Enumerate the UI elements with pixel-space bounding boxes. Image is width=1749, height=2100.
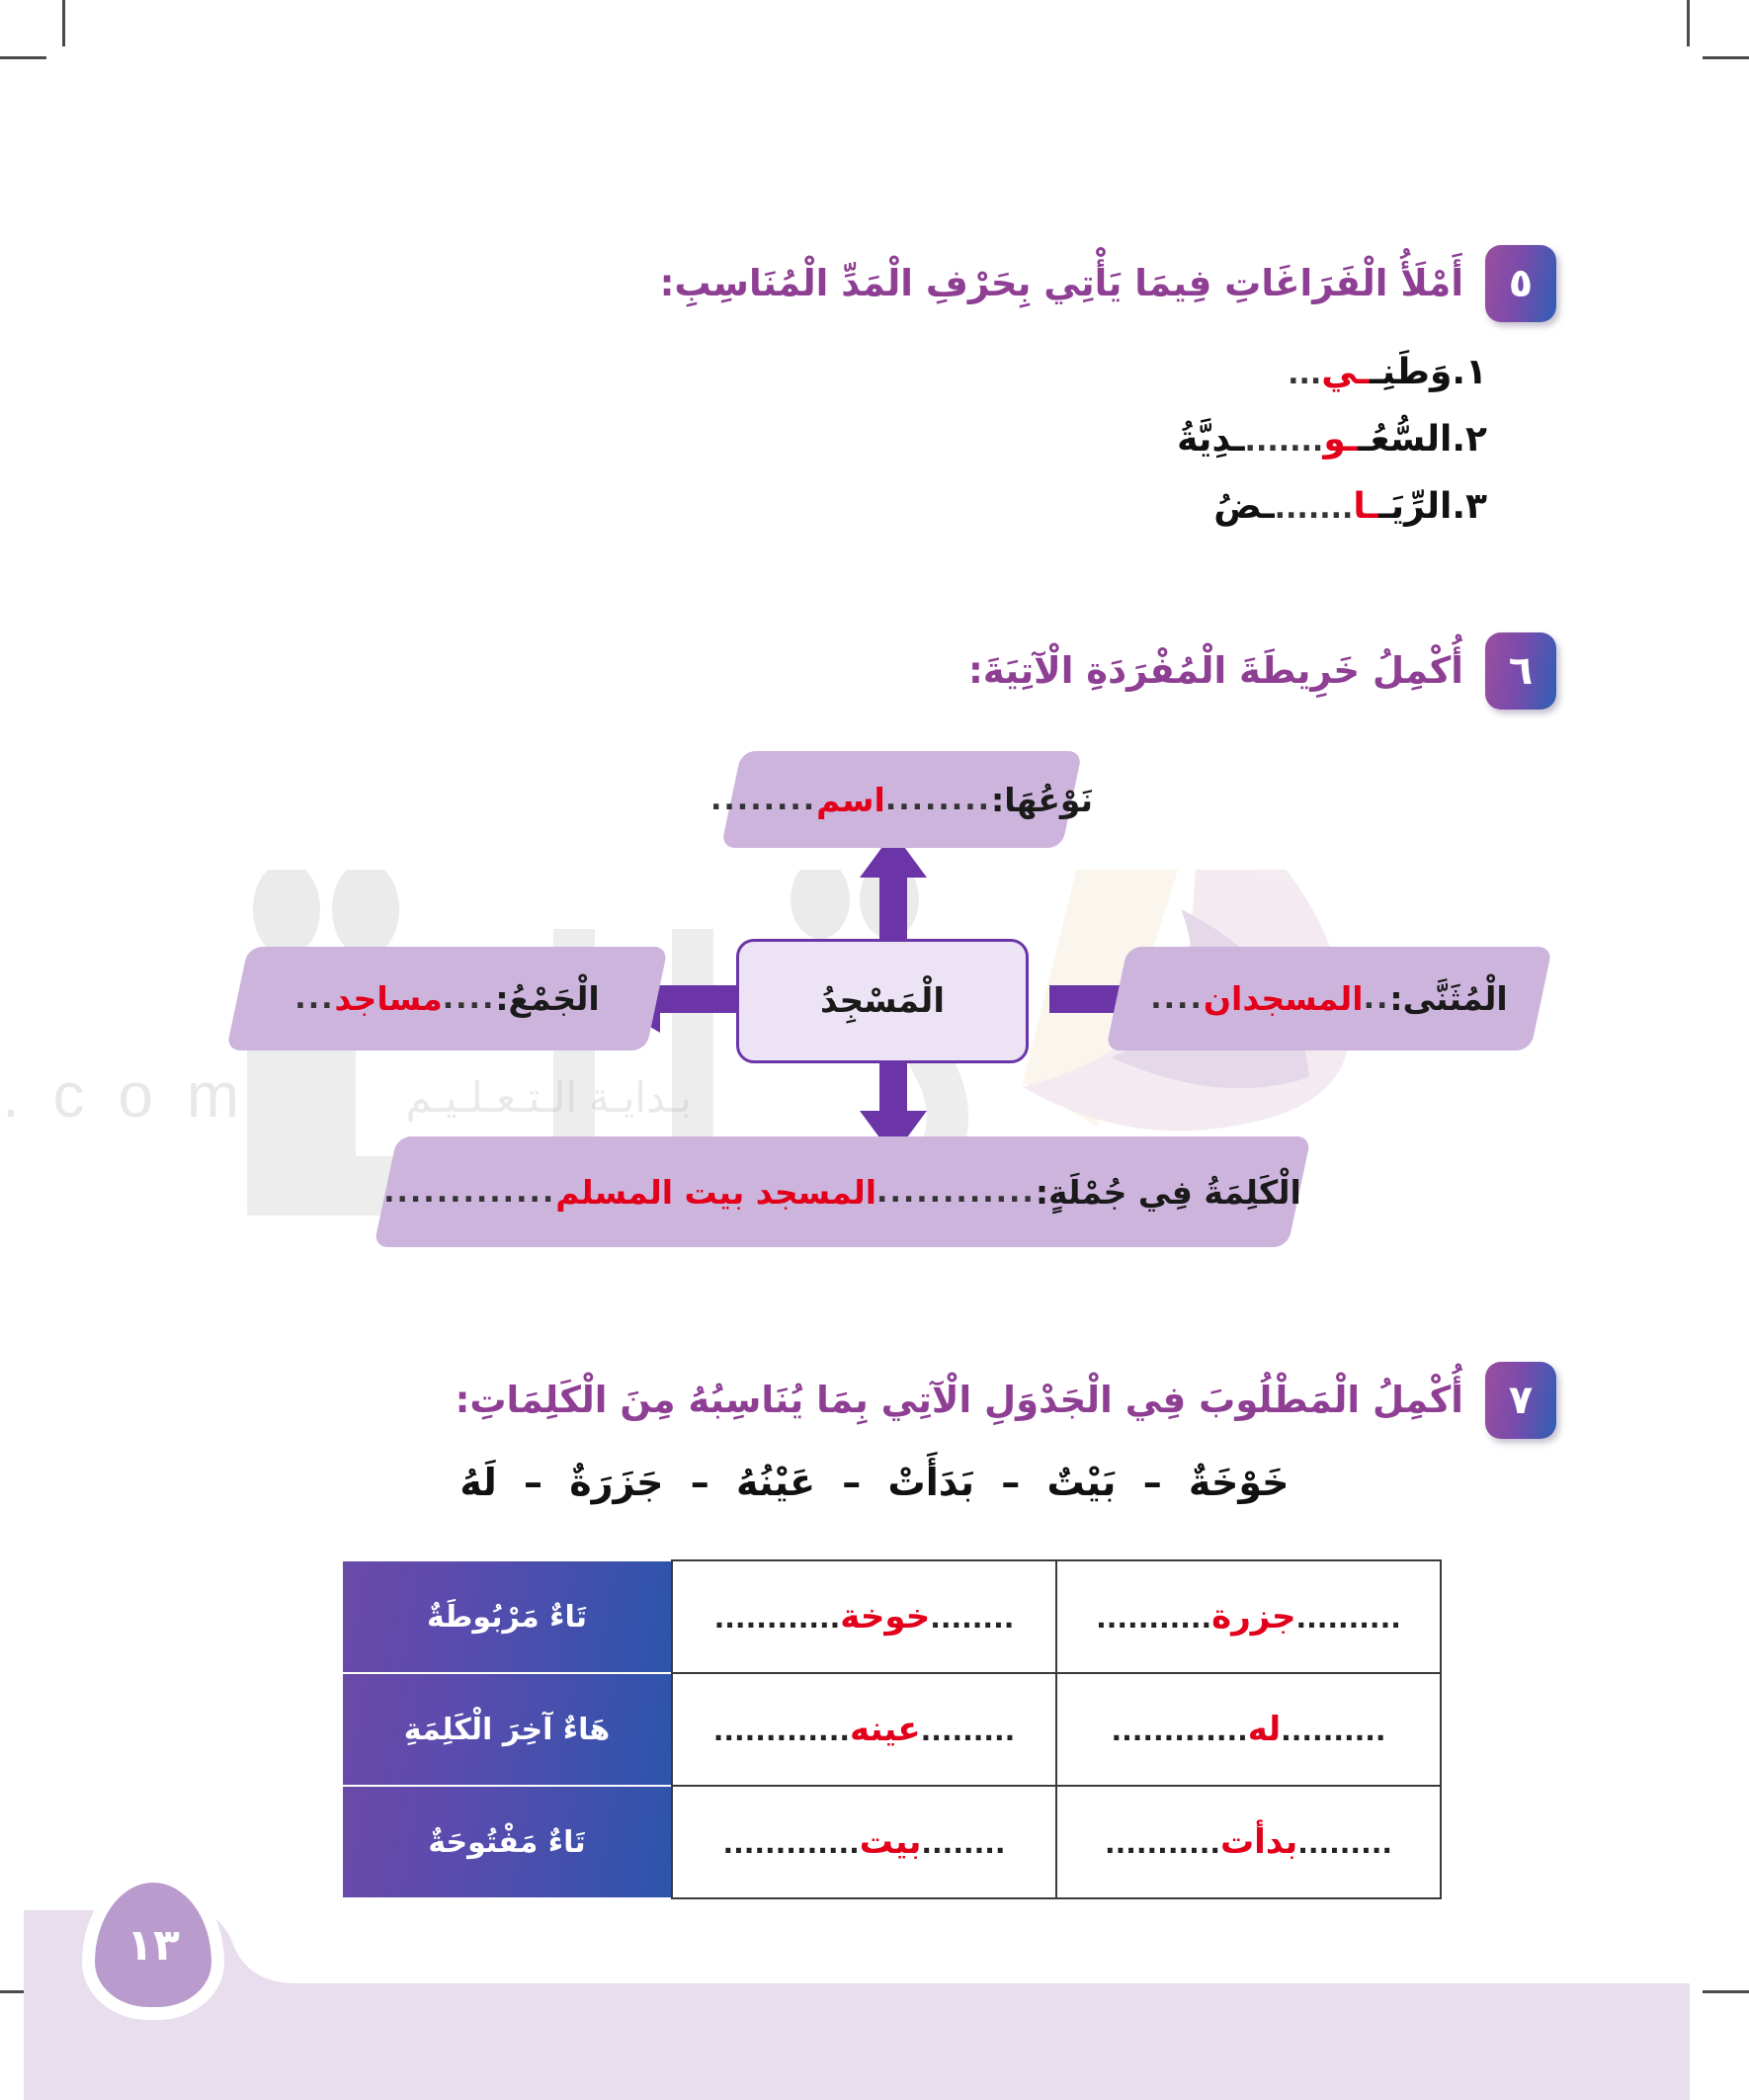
cell-dots-before: ......... xyxy=(921,1715,1016,1747)
fill-blank-item-3-answer: ـا xyxy=(1353,486,1378,527)
question-5-prompt: أَمْلَأُ الْفَرَاغَاتِ فِيمَا يَأْتِي بِ… xyxy=(660,263,1463,305)
table-cell-row2-col1[interactable]: .........عينه............. xyxy=(672,1673,1056,1786)
word-map-dual-box[interactable]: الْمُثَنَّى: .. المسجدان .... xyxy=(1106,947,1552,1050)
fill-blank-item-1[interactable]: ١.وَطَنِــي... xyxy=(1288,351,1487,393)
word-map-sentence-label: الْكَلِمَةُ فِي جُمْلَةٍ: xyxy=(1036,1173,1301,1212)
question-6-heading: ٦ أُكْمِلُ خَرِيطَةَ الْمُفْرَدَةِ الْآت… xyxy=(968,632,1556,710)
fill-blank-item-2-after: ـدِيَّةُ xyxy=(1177,419,1244,460)
fill-blank-item-1-before: وَطَنِـ xyxy=(1370,352,1452,392)
cell-dots-after: ............ xyxy=(714,1602,841,1635)
word-map-sentence-answer: المسجد بيت المسلم xyxy=(555,1173,876,1212)
fill-blank-item-3-dots: ....... xyxy=(1275,491,1354,526)
fill-blank-item-3-after: ـضُ xyxy=(1213,486,1274,527)
question-5-heading: ٥ أَمْلَأُ الْفَرَاغَاتِ فِيمَا يَأْتِي … xyxy=(660,245,1556,322)
fill-blank-item-3-number: ٣. xyxy=(1452,486,1487,527)
fill-blank-item-2[interactable]: ٢.السُّعُــو.......ـدِيَّةُ xyxy=(1177,418,1487,461)
word-bank-item-3: بَدَأَتْ xyxy=(888,1461,974,1504)
word-map-sentence-dots-before: ............ xyxy=(876,1175,1036,1210)
word-bank-item-5: جَزَرَةٌ xyxy=(569,1461,663,1504)
cell-dots-before: .......... xyxy=(1295,1602,1400,1635)
word-map-type-label: نَوْعُهَا: xyxy=(991,781,1093,819)
cell-answer: جزرة xyxy=(1211,1597,1295,1637)
question-5-badge: ٥ xyxy=(1485,245,1556,322)
word-map-sentence-box[interactable]: الْكَلِمَةُ فِي جُمْلَةٍ: ............ ا… xyxy=(374,1136,1311,1247)
word-map-center-word: الْمَسْجِدُ xyxy=(820,981,945,1021)
cell-dots-before: ......... xyxy=(1297,1827,1392,1860)
cell-dots-before: .......... xyxy=(1281,1715,1385,1747)
word-bank-item-2: بَيْتٌ xyxy=(1046,1461,1116,1504)
word-bank-item-4: عَيْنُهُ xyxy=(736,1461,815,1504)
question-7-heading: ٧ أُكْمِلُ الْمَطْلُوبَ فِي الْجَدْوَلِ … xyxy=(456,1362,1556,1439)
table-cell-row3-col1[interactable]: ........بيت............. xyxy=(672,1786,1056,1898)
cell-dots-after: ............. xyxy=(1111,1715,1247,1747)
fill-blank-item-2-number: ٢. xyxy=(1452,419,1487,460)
fill-blank-item-1-dots: ... xyxy=(1288,357,1321,391)
word-bank-item-6: لَهُ xyxy=(459,1461,496,1504)
word-bank-separator: – xyxy=(1129,1461,1176,1504)
word-map-diagram: نَوْعُهَا: ........ اسم ........ الْجَمْ… xyxy=(0,751,1749,1196)
table-cell-row1-col1[interactable]: ........خوخة............ xyxy=(672,1560,1056,1673)
word-bank-separator: – xyxy=(828,1461,874,1504)
question-6-badge: ٦ xyxy=(1485,632,1556,710)
word-map-type-dots-before: ........ xyxy=(885,783,991,817)
word-map-plural-answer: مساجد xyxy=(335,979,443,1018)
word-map-type-box[interactable]: نَوْعُهَا: ........ اسم ........ xyxy=(721,751,1083,848)
cell-answer: بيت xyxy=(860,1822,922,1862)
word-map-plural-box[interactable]: الْجَمْعُ: .... مساجد ... xyxy=(226,947,668,1050)
table-row-header-haa-end: هَاءٌ آخِرَ الْكَلِمَةِ xyxy=(342,1673,672,1786)
table-cell-row1-col2[interactable]: ..........جزرة........... xyxy=(1056,1560,1441,1673)
word-map-plural-label: الْجَمْعُ: xyxy=(495,979,599,1018)
page-number-text: ١٣ xyxy=(126,1920,180,1971)
cell-dots-after: ............. xyxy=(722,1827,859,1860)
table-row: ..........جزرة........... ........خوخة..… xyxy=(342,1560,1441,1673)
word-map-type-dots-after: ........ xyxy=(710,783,816,817)
question-7-badge: ٧ xyxy=(1485,1362,1556,1439)
question-7-prompt: أُكْمِلُ الْمَطْلُوبَ فِي الْجَدْوَلِ ال… xyxy=(456,1380,1463,1422)
word-bank-item-1: خَوْخَةٌ xyxy=(1189,1461,1290,1504)
word-map-plural-dots-before: .... xyxy=(443,981,496,1016)
table-row-header-taa-maftuha: تَاءٌ مَفْتُوحَةٌ xyxy=(342,1786,672,1898)
cell-dots-after: ............. xyxy=(713,1715,850,1747)
word-map-sentence-dots-after: ............. xyxy=(383,1175,555,1210)
fill-blank-item-3[interactable]: ٣.الرِّيَــا.......ـضُ xyxy=(1213,485,1487,528)
table-row-header-taa-marbuta: تَاءٌ مَرْبُوطَةٌ xyxy=(342,1560,672,1673)
cell-answer: عينه xyxy=(850,1710,921,1749)
word-bank-separator: – xyxy=(677,1461,723,1504)
fill-blank-item-1-answer: ـي xyxy=(1321,352,1370,392)
question-6-prompt: أُكْمِلُ خَرِيطَةَ الْمُفْرَدَةِ الْآتِي… xyxy=(968,650,1463,693)
word-bank-separator: – xyxy=(510,1461,556,1504)
fill-blank-item-2-before: السُّعُـ xyxy=(1358,419,1452,460)
cell-dots-after: ........... xyxy=(1105,1827,1220,1860)
classification-table: ..........جزرة........... ........خوخة..… xyxy=(341,1559,1442,1899)
fill-blank-item-1-number: ١. xyxy=(1452,352,1487,392)
word-map-dual-dots-after: .... xyxy=(1150,981,1204,1016)
arrow-up-icon xyxy=(858,832,929,941)
fill-blank-item-2-dots: ....... xyxy=(1245,424,1324,459)
cell-dots-before: ........ xyxy=(930,1602,1014,1635)
word-bank: خَوْخَةٌ – بَيْتٌ – بَدَأَتْ – عَيْنُهُ … xyxy=(0,1461,1749,1504)
page-number-badge: ١٣ xyxy=(95,1883,211,2007)
word-map-dual-answer: المسجدان xyxy=(1204,979,1364,1018)
cell-answer: بدأت xyxy=(1220,1822,1297,1862)
footer-decoration xyxy=(0,1902,1749,2100)
cell-answer: خوخة xyxy=(840,1597,930,1637)
word-map-center-box[interactable]: الْمَسْجِدُ xyxy=(736,939,1029,1063)
word-map-plural-dots-after: ... xyxy=(294,981,334,1016)
cell-answer: له xyxy=(1248,1710,1281,1749)
cell-dots-after: ........... xyxy=(1096,1602,1211,1635)
table-row: ..........له............. .........عينه.… xyxy=(342,1673,1441,1786)
word-map-dual-label: الْمُثَنَّى: xyxy=(1389,979,1507,1018)
table-cell-row3-col2[interactable]: .........بدأت........... xyxy=(1056,1786,1441,1898)
table-cell-row2-col2[interactable]: ..........له............. xyxy=(1056,1673,1441,1786)
fill-blank-item-2-answer: ـو xyxy=(1323,419,1358,460)
cell-dots-before: ........ xyxy=(921,1827,1005,1860)
word-bank-separator: – xyxy=(987,1461,1034,1504)
word-map-dual-dots-before: .. xyxy=(1364,981,1390,1016)
fill-blank-item-3-before: الرِّيَـ xyxy=(1378,486,1452,527)
table-row: .........بدأت........... ........بيت....… xyxy=(342,1786,1441,1898)
word-map-type-answer: اسم xyxy=(816,781,885,819)
